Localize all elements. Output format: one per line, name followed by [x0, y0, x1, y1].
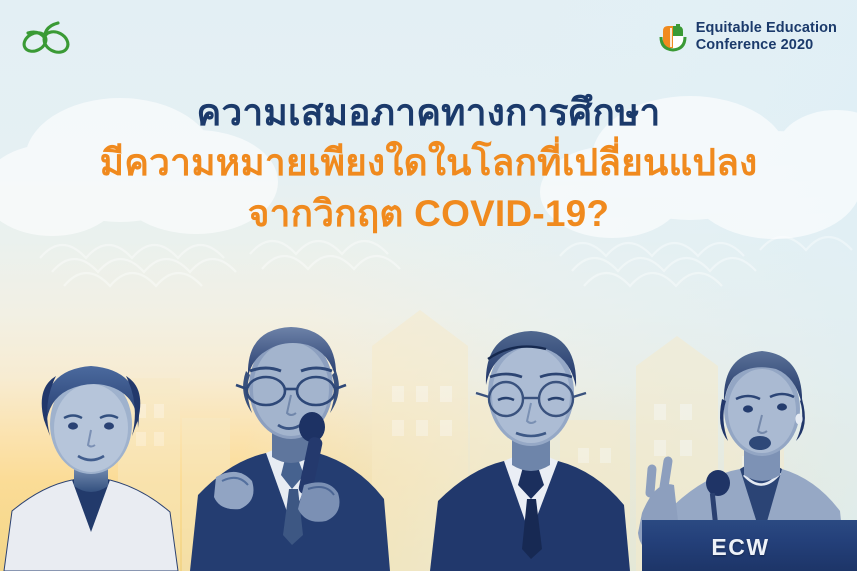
conference-poster: Equitable Education Conference 2020 ความ… — [0, 0, 857, 571]
speaker-portrait-1 — [0, 346, 194, 571]
eef-seedling-logo[interactable] — [18, 16, 74, 58]
ecw-podium-panel: ECW — [642, 520, 857, 571]
podium-label: ECW — [711, 534, 769, 561]
headline-line-2: มีความหมายเพียงใดในโลกที่เปลี่ยนแปลง — [0, 138, 857, 188]
speaker-portrait-2 — [186, 309, 396, 571]
equitable-education-conference-mark — [659, 22, 687, 52]
headline-line-3: จากวิกฤต COVID-19? — [0, 189, 857, 239]
speaker-portrait-3 — [428, 319, 633, 571]
headline-line-1: ความเสมอภาคทางการศึกษา — [0, 88, 857, 138]
conference-logo[interactable]: Equitable Education Conference 2020 — [659, 20, 837, 54]
conference-logo-title: Equitable Education Conference 2020 — [696, 20, 837, 54]
headline-block: ความเสมอภาคทางการศึกษา มีความหมายเพียงใด… — [0, 88, 857, 239]
